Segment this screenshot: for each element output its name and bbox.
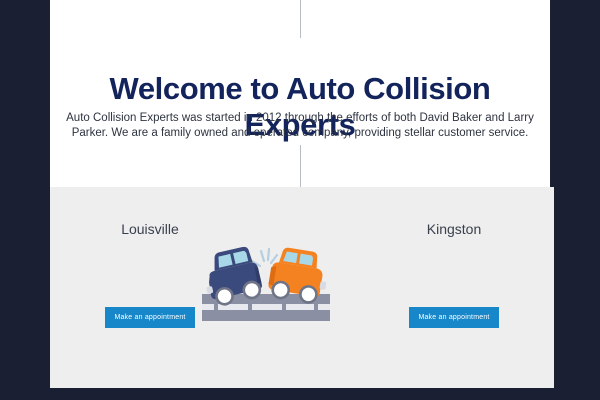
car-collision-illustration xyxy=(202,239,330,321)
make-appointment-button-kingston[interactable]: Make an appointment xyxy=(409,307,499,328)
hero-paragraph: Auto Collision Experts was started in 20… xyxy=(60,111,540,142)
hero-section: Welcome to Auto Collision Experts Auto C… xyxy=(50,0,550,187)
location-name-louisville: Louisville xyxy=(50,221,250,237)
page-root: Welcome to Auto Collision Experts Auto C… xyxy=(0,0,600,400)
divider-top xyxy=(300,0,301,38)
location-card-kingston: Kingston Make an appointment xyxy=(354,187,554,388)
make-appointment-button-louisville[interactable]: Make an appointment xyxy=(105,307,195,328)
divider-bottom xyxy=(300,145,301,187)
location-name-kingston: Kingston xyxy=(354,221,554,237)
locations-section: Louisville Make an appointment Kingston … xyxy=(50,187,554,388)
